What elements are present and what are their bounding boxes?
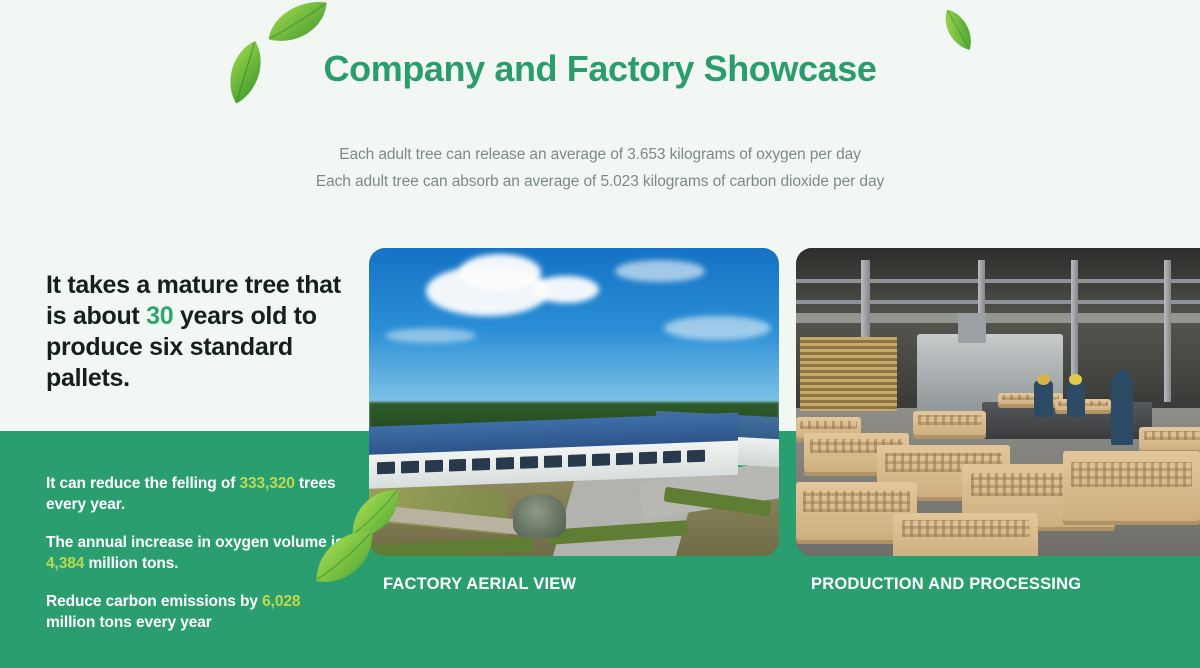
stat-prefix: It can reduce the felling of bbox=[46, 475, 239, 492]
stat-prefix: The annual increase in oxygen volume is bbox=[46, 534, 344, 551]
photo-production-processing bbox=[796, 248, 1200, 556]
infographic-page: Company and Factory Showcase Each adult … bbox=[0, 0, 1200, 668]
subtitle-line-1: Each adult tree can release an average o… bbox=[0, 146, 1200, 164]
stat-number: 333,320 bbox=[239, 475, 294, 492]
stat-number: 4,384 bbox=[46, 555, 84, 572]
headline-highlight-years: 30 bbox=[146, 302, 173, 330]
stat-item: The annual increase in oxygen volume is … bbox=[46, 533, 346, 574]
stat-prefix: Reduce carbon emissions by bbox=[46, 593, 262, 610]
photo-factory-aerial bbox=[369, 248, 779, 556]
stat-suffix: million tons. bbox=[84, 555, 178, 572]
caption-factory-aerial: FACTORY AERIAL VIEW bbox=[383, 575, 576, 594]
subtitle-line-2: Each adult tree can absorb an average of… bbox=[0, 173, 1200, 191]
stats-list: It can reduce the felling of 333,320 tre… bbox=[46, 474, 346, 651]
page-title: Company and Factory Showcase bbox=[0, 48, 1200, 90]
stat-item: Reduce carbon emissions by 6,028 million… bbox=[46, 592, 346, 633]
stat-suffix: million tons every year bbox=[46, 614, 212, 631]
stat-number: 6,028 bbox=[262, 593, 300, 610]
stat-item: It can reduce the felling of 333,320 tre… bbox=[46, 474, 346, 515]
leaf-icon bbox=[258, 0, 337, 51]
caption-production-processing: PRODUCTION AND PROCESSING bbox=[811, 575, 1081, 594]
headline-text: It takes a mature tree that is about 30 … bbox=[46, 270, 346, 394]
